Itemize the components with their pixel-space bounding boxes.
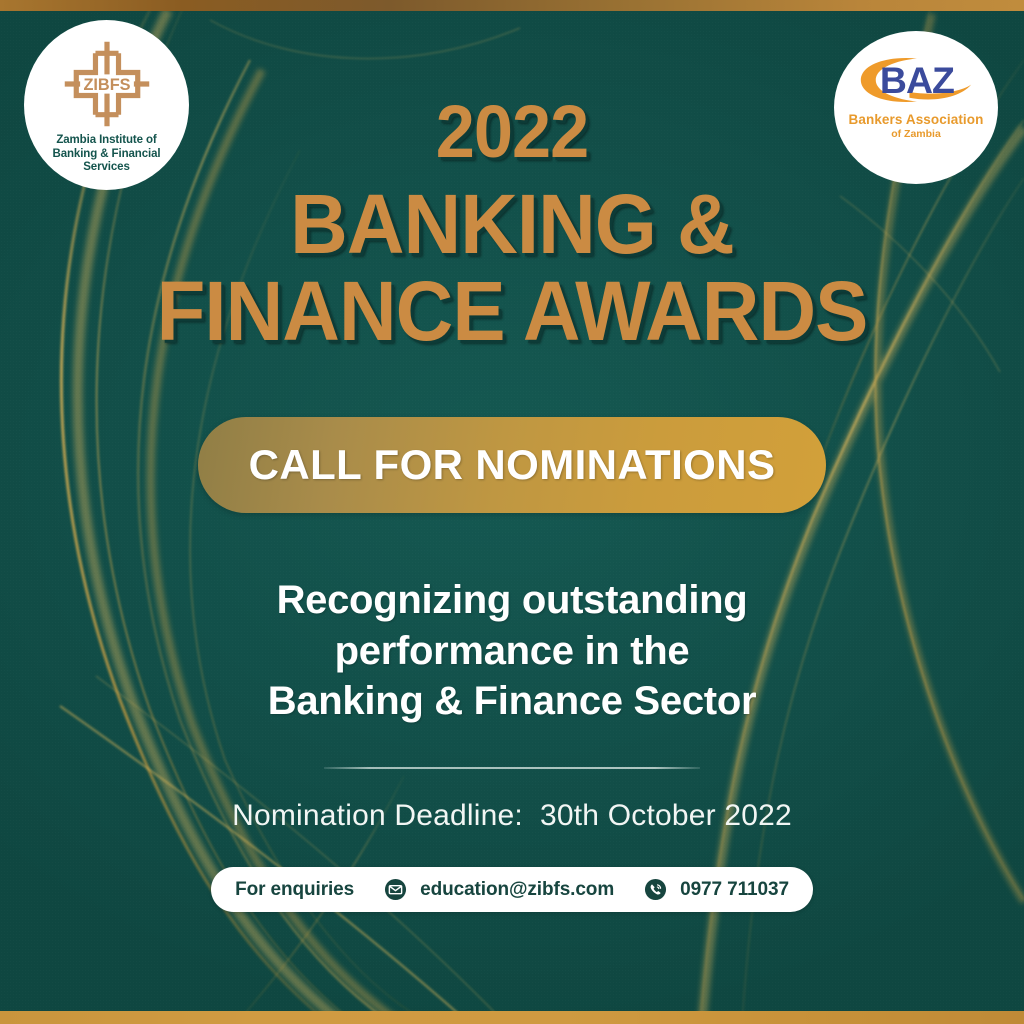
- tagline-line-1: Recognizing outstanding: [268, 575, 756, 626]
- zibfs-mark-text: ZIBFS: [83, 76, 130, 94]
- awards-poster: ZIBFS Zambia Institute of Banking & Fina…: [0, 0, 1024, 1024]
- tagline-line-3: Banking & Finance Sector: [268, 676, 756, 727]
- contact-bar: For enquiries education@zibfs.com 0977 7…: [211, 867, 813, 912]
- zibfs-caption: Zambia Institute of Banking & Financial …: [52, 134, 160, 175]
- nomination-deadline: Nomination Deadline: 30th October 2022: [232, 799, 792, 833]
- baz-mark-text: BAZ: [880, 59, 954, 101]
- zibfs-caption-line-1: Zambia Institute of: [52, 134, 160, 148]
- contact-phone[interactable]: 0977 711037: [680, 879, 789, 901]
- envelope-icon: [384, 878, 407, 901]
- zibfs-emblem-icon: ZIBFS: [59, 36, 155, 132]
- baz-logo: BAZ Bankers Association of Zambia: [834, 31, 998, 184]
- cta-label: CALL FOR NOMINATIONS: [249, 441, 776, 489]
- call-for-nominations-button[interactable]: CALL FOR NOMINATIONS: [198, 417, 826, 513]
- contact-email[interactable]: education@zibfs.com: [420, 879, 614, 901]
- zibfs-logo: ZIBFS Zambia Institute of Banking & Fina…: [24, 20, 189, 190]
- phone-ringing-icon: [644, 878, 667, 901]
- contact-label: For enquiries: [235, 879, 354, 901]
- baz-emblem-icon: BAZ: [854, 51, 978, 109]
- section-divider: [324, 767, 700, 769]
- tagline-line-2: performance in the: [268, 626, 756, 677]
- baz-caption-line-1: Bankers Association: [849, 112, 984, 127]
- title-line-2: FINANCE AWARDS: [26, 271, 999, 352]
- zibfs-caption-line-3: Services: [52, 161, 160, 175]
- baz-caption-line-2: of Zambia: [891, 128, 941, 140]
- tagline: Recognizing outstanding performance in t…: [268, 575, 756, 727]
- zibfs-caption-line-2: Banking & Financial: [52, 148, 160, 162]
- title-line-1: BANKING &: [26, 184, 999, 265]
